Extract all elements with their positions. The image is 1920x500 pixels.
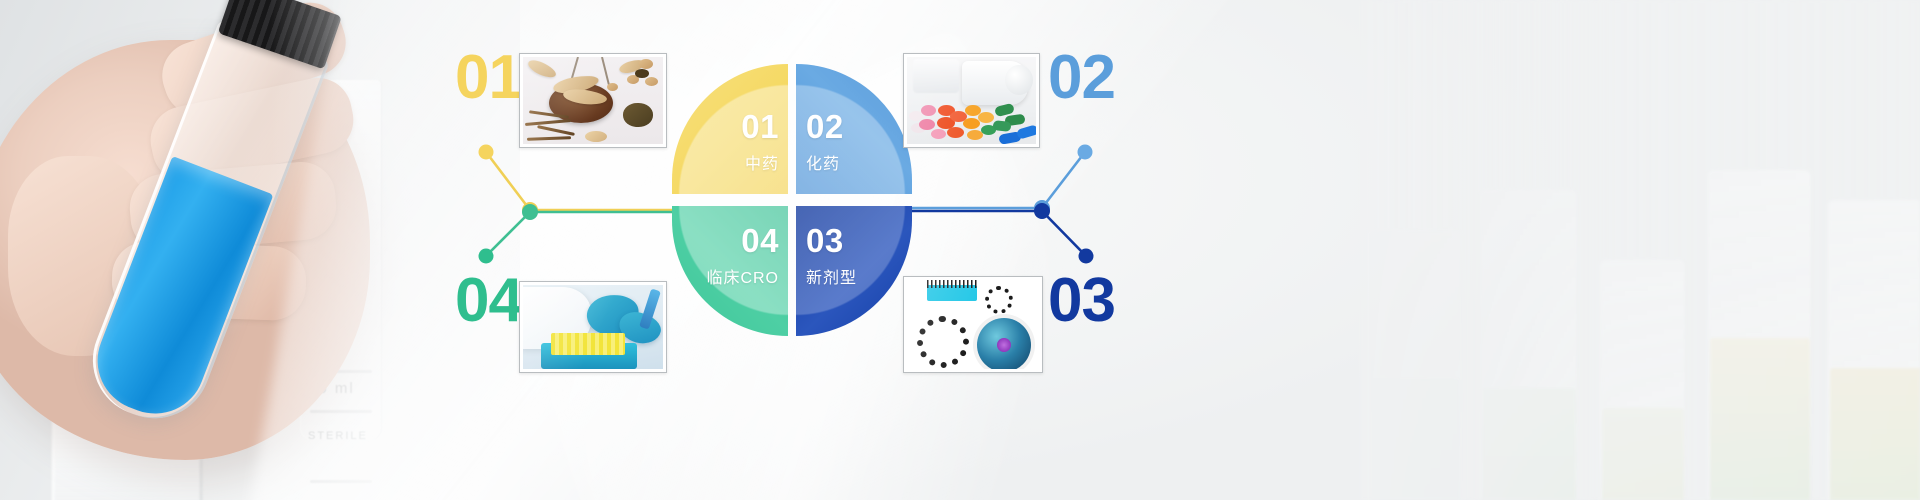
infographic: 01 中药 02 化药 04 临床CRO xyxy=(0,0,1920,500)
segment-03-text: 新剂型 xyxy=(806,264,857,288)
segment-04[interactable]: 04 临床CRO xyxy=(672,206,788,336)
thumbnail-01-herbal-medicine[interactable] xyxy=(519,53,667,148)
segment-01-number: 01 xyxy=(741,110,779,143)
thumbnail-04-lab-technician[interactable] xyxy=(519,281,667,373)
segment-02-text: 化药 xyxy=(806,150,844,174)
segment-02-label: 02 化药 xyxy=(806,110,844,174)
thumbnail-03-liposome-diagram[interactable] xyxy=(903,276,1043,373)
outer-number-01: 01 xyxy=(455,47,522,109)
segment-01[interactable]: 01 中药 xyxy=(672,64,788,194)
segment-03-label: 03 新剂型 xyxy=(806,224,857,288)
thumbnail-02-pills[interactable] xyxy=(903,53,1040,148)
outer-number-02: 02 xyxy=(1048,47,1115,109)
quadrant-circle: 01 中药 02 化药 04 临床CRO xyxy=(672,64,912,336)
outer-number-04: 04 xyxy=(455,270,522,332)
segment-03[interactable]: 03 新剂型 xyxy=(796,206,912,336)
segment-04-number: 04 xyxy=(706,224,779,257)
segment-03-number: 03 xyxy=(806,224,857,257)
segment-01-label: 01 中药 xyxy=(741,110,779,174)
segment-02[interactable]: 02 化药 xyxy=(796,64,912,194)
banner-stage: 10 ml STERILE xyxy=(0,0,1920,500)
outer-number-03: 03 xyxy=(1048,270,1115,332)
segment-01-text: 中药 xyxy=(741,150,779,174)
segment-04-label: 04 临床CRO xyxy=(706,224,779,288)
segment-02-number: 02 xyxy=(806,110,844,143)
segment-04-text: 临床CRO xyxy=(706,264,779,288)
